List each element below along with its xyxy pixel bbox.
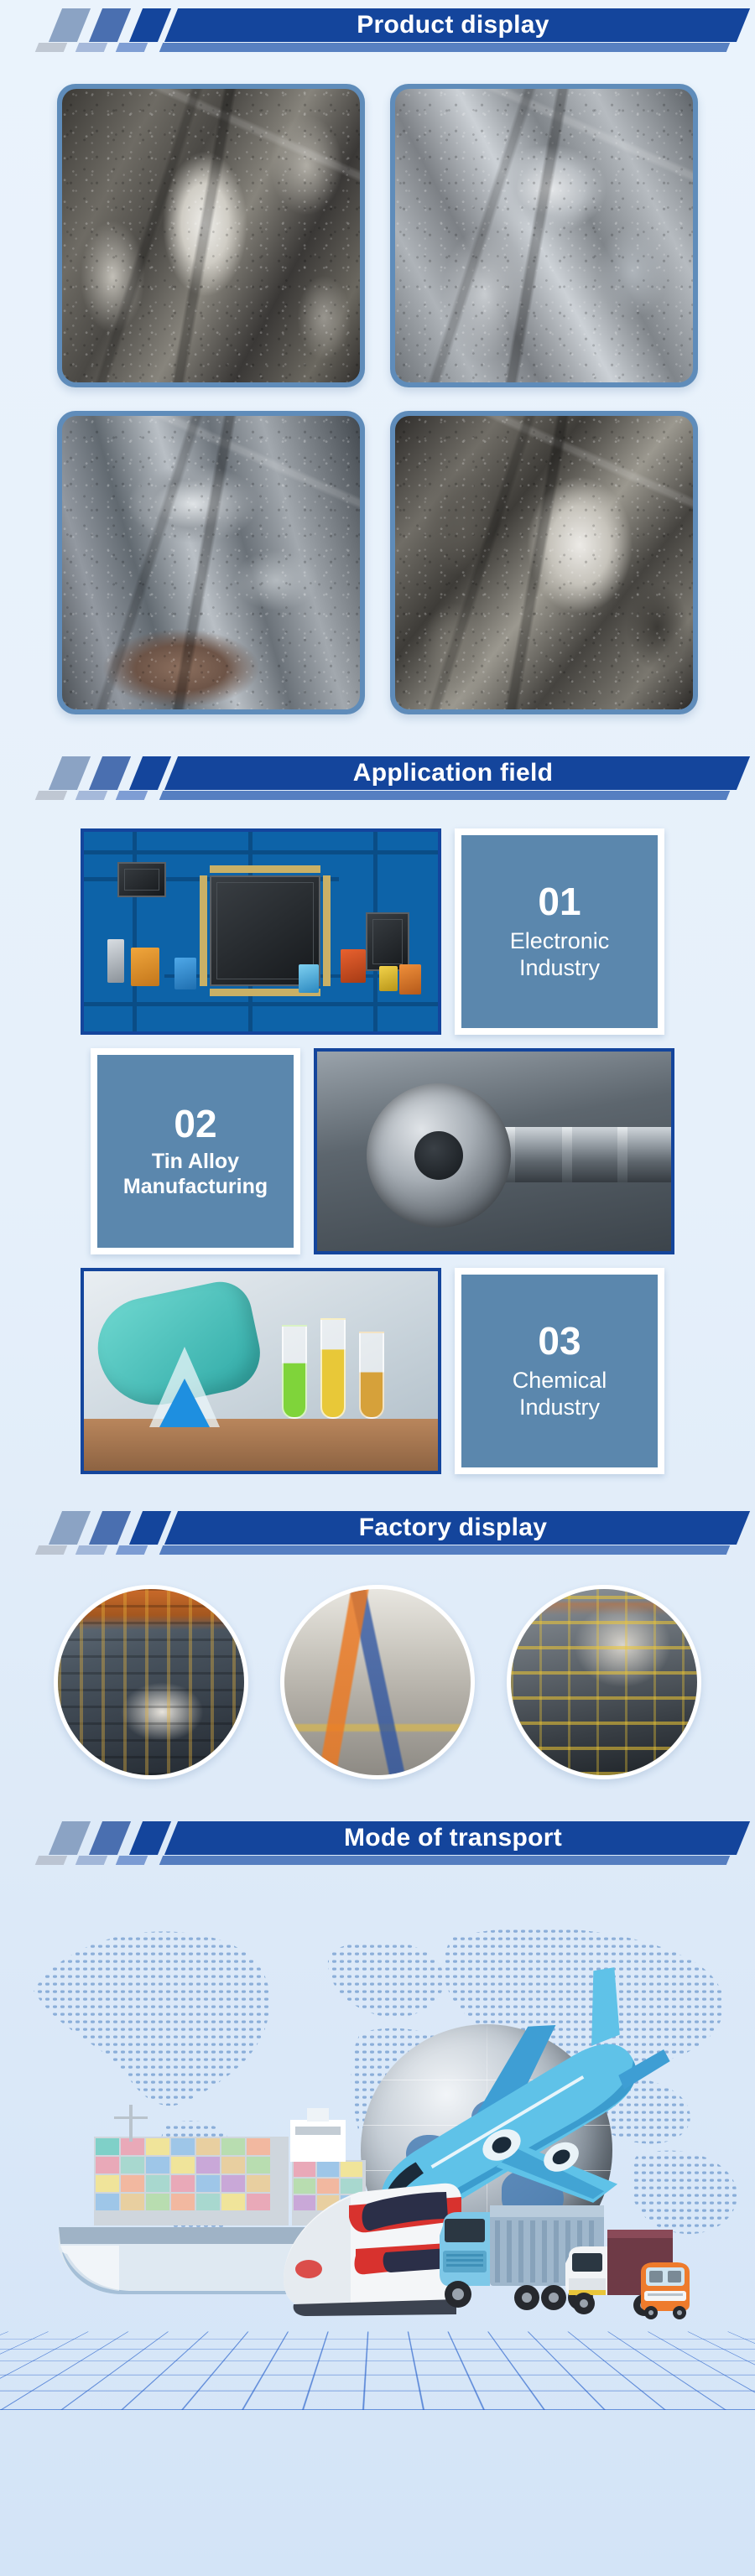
banner-stripe-shadow-2 xyxy=(75,791,107,800)
section-banner-product-display: Product display xyxy=(12,0,743,60)
laboratory-photo[interactable] xyxy=(81,1268,441,1474)
application-name-line1: Chemical xyxy=(513,1367,607,1394)
refining-furnace-photo xyxy=(511,1589,697,1775)
section-banner-factory-display: Factory display xyxy=(12,1503,743,1563)
banner-stripe-shadow-1 xyxy=(35,791,67,800)
banner-stripe-shadow-3 xyxy=(116,1545,148,1555)
section-title-factory-display: Factory display xyxy=(171,1511,735,1545)
product-photo-grid xyxy=(0,60,755,714)
application-number: 01 xyxy=(538,881,581,922)
banner-bar-shadow xyxy=(159,43,730,52)
section-title-application-field: Application field xyxy=(171,756,735,790)
smelting-workshop-photo xyxy=(58,1589,244,1775)
section-banner-mode-of-transport: Mode of transport xyxy=(12,1813,743,1873)
banner-stripe-shadow-2 xyxy=(75,1856,107,1865)
banner-bar-shadow xyxy=(159,1856,730,1865)
banner-stripes-shadow xyxy=(37,43,146,52)
factory-photo-item[interactable] xyxy=(54,1585,248,1779)
application-name-line1: Electronic xyxy=(510,927,610,954)
application-row: 03 Chemical Industry xyxy=(81,1268,674,1474)
banner-stripe-3 xyxy=(129,1821,171,1855)
application-field-list: 01 Electronic Industry 02 xyxy=(0,808,755,1474)
banner-stripe-1 xyxy=(49,8,91,42)
banner-stripes xyxy=(55,8,164,42)
banner-stripes-shadow xyxy=(37,1856,146,1865)
banner-stripe-shadow-3 xyxy=(116,791,148,800)
banner-stripes xyxy=(55,1821,164,1855)
banner-stripe-shadow-2 xyxy=(75,43,107,52)
delivery-van-icon xyxy=(636,2256,695,2321)
banner-stripe-shadow-1 xyxy=(35,1545,67,1555)
banner-stripe-2 xyxy=(89,1821,131,1855)
banner-stripe-shadow-2 xyxy=(75,1545,107,1555)
tin-ore-chunks-dark-photo xyxy=(395,416,693,709)
banner-stripes xyxy=(55,1511,164,1545)
application-name-line1: Tin Alloy xyxy=(152,1149,239,1174)
circuit-board-photo[interactable] xyxy=(81,828,441,1035)
section-title-mode-of-transport: Mode of transport xyxy=(171,1821,735,1855)
tin-metal-fracture-texture-photo xyxy=(62,416,360,709)
banner-stripe-1 xyxy=(49,1511,91,1545)
banner-stripe-1 xyxy=(49,1821,91,1855)
application-name-line2: Industry xyxy=(519,954,600,981)
banner-stripe-shadow-1 xyxy=(35,1856,67,1865)
high-speed-train-icon xyxy=(268,2172,461,2323)
product-photo-card[interactable] xyxy=(57,84,365,387)
banner-stripe-shadow-1 xyxy=(35,43,67,52)
section-banner-application-field: Application field xyxy=(12,748,743,808)
application-name-line2: Industry xyxy=(519,1394,600,1420)
banner-bar-shadow xyxy=(159,791,730,800)
banner-stripe-3 xyxy=(129,756,171,790)
factory-photo-item[interactable] xyxy=(507,1585,701,1779)
factory-photo-row xyxy=(0,1563,755,1779)
tin-ore-lumps-grey-white-photo xyxy=(62,89,360,382)
product-photo-card[interactable] xyxy=(390,411,698,714)
banner-stripe-3 xyxy=(129,1511,171,1545)
application-number: 03 xyxy=(538,1321,581,1361)
banner-bar-shadow xyxy=(159,1545,730,1555)
application-label-card[interactable]: 02 Tin Alloy Manufacturing xyxy=(91,1048,300,1254)
banner-stripe-shadow-3 xyxy=(116,1856,148,1865)
application-number: 02 xyxy=(174,1104,216,1144)
tin-ingot-crystalline-surface-photo xyxy=(395,89,693,382)
application-label-card[interactable]: 03 Chemical Industry xyxy=(455,1268,664,1474)
banner-stripe-1 xyxy=(49,756,91,790)
section-title-product-display: Product display xyxy=(171,8,735,42)
banner-stripe-2 xyxy=(89,756,131,790)
banner-stripe-3 xyxy=(129,8,171,42)
application-row: 01 Electronic Industry xyxy=(81,828,674,1035)
banner-stripe-2 xyxy=(89,1511,131,1545)
perspective-grid-floor xyxy=(0,2332,755,2410)
banner-stripes-shadow xyxy=(37,1545,146,1555)
product-marketing-page: Product display xyxy=(0,0,755,2576)
transport-illustration xyxy=(0,1873,755,2410)
banner-stripes-shadow xyxy=(37,791,146,800)
banner-stripe-shadow-3 xyxy=(116,43,148,52)
lathe-machining-photo[interactable] xyxy=(314,1048,674,1254)
application-row: 02 Tin Alloy Manufacturing xyxy=(81,1048,674,1254)
banner-stripe-2 xyxy=(89,8,131,42)
application-label-card[interactable]: 01 Electronic Industry xyxy=(455,828,664,1035)
factory-photo-item[interactable] xyxy=(280,1585,475,1779)
product-photo-card[interactable] xyxy=(57,411,365,714)
production-line-photo xyxy=(284,1589,471,1775)
application-name-line2: Manufacturing xyxy=(123,1174,268,1199)
product-photo-card[interactable] xyxy=(390,84,698,387)
banner-stripes xyxy=(55,756,164,790)
